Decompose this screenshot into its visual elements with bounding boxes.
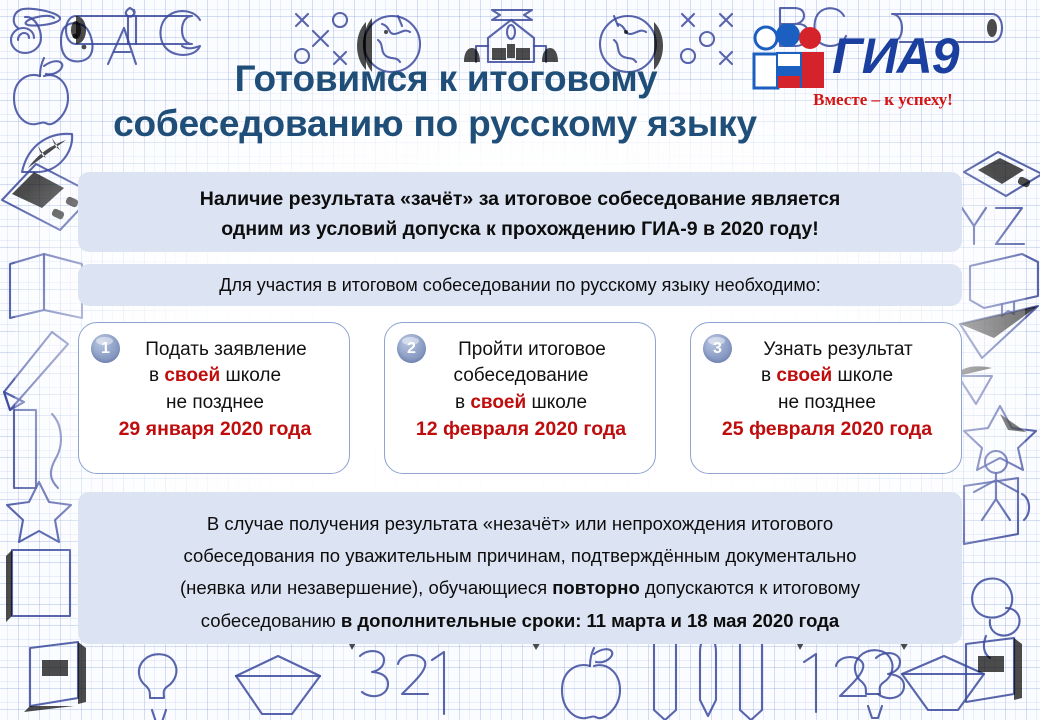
gia9-logo-wordmark: ГИА9 [832,27,959,85]
step3-line-3: не позднее [703,390,951,416]
step-card-2[interactable]: 2 Пройти итоговое собеседование в своей … [384,322,656,474]
step2-date: 12 февраля 2020 года [397,416,645,444]
step3-line2-post: школе [832,365,893,386]
step2-line-1: Пройти итоговое [419,337,645,363]
note-line4-bold: в дополнительные сроки: 11 марта и 18 ма… [341,610,839,631]
step3-line2-highlight: своей [776,365,832,386]
step-card-1[interactable]: 1 Подать заявление в своей школе не позд… [78,322,350,474]
step-body-1: Подать заявление в своей школе не поздне… [79,337,349,444]
title-line-1: Готовимся к итоговому [96,56,796,101]
emphasis-panel: Наличие результата «зачёт» за итоговое с… [78,172,962,252]
step1-line-3: не позднее [91,390,339,416]
gia9-logo-figures-icon [748,24,840,90]
requirement-panel: Для участия в итоговом собеседовании по … [78,264,962,306]
emphasis-line-1: Наличие результата «зачёт» за итоговое с… [78,185,962,215]
step-body-3: Узнать результат в своей школе не поздне… [691,337,961,444]
step2-line3-highlight: своей [470,392,526,413]
note-line4-a: собеседованию [201,610,341,631]
gia9-logo-tagline: Вместе – к успеху! [798,90,968,110]
requirement-text: Для участия в итоговом собеседовании по … [219,275,820,296]
poster-content: Готовимся к итоговому собеседованию по р… [0,0,1040,720]
steps-container: 1 Подать заявление в своей школе не позд… [78,322,962,474]
step-card-3[interactable]: 3 Узнать результат в своей школе не позд… [690,322,962,474]
note-line3-bold: повторно [552,577,640,598]
gia9-logo: ГИА9 Вместе – к успеху! [748,24,964,116]
step1-line2-highlight: своей [164,365,220,386]
step2-line3-post: школе [526,392,587,413]
title-line-2: собеседованию по русскому языку [74,101,796,146]
step1-line2-pre: в [149,365,164,386]
step-body-2: Пройти итоговое собеседование в своей шк… [385,337,655,444]
page-title: Готовимся к итоговому собеседованию по р… [96,56,796,146]
note-line3-c: допускаются к итоговому [640,577,860,598]
step3-line2-pre: в [761,365,776,386]
step1-date: 29 января 2020 года [91,416,339,444]
step3-date: 25 февраля 2020 года [703,416,951,444]
step1-line-1: Подать заявление [113,337,339,363]
step2-line-2: собеседование [397,363,645,389]
emphasis-line-2: одним из условий допуска к прохождению Г… [78,215,962,245]
note-line3-a: (неявка или незавершение), обучающиеся [180,577,552,598]
note-line-2: собеседования по уважительным причинам, … [78,540,962,572]
step1-line-2: в своей школе [91,363,339,389]
step1-line2-post: школе [220,365,281,386]
note-line-1: В случае получения результата «незачёт» … [78,508,962,540]
step3-line-1: Узнать результат [725,337,951,363]
poster-canvas: Готовимся к итоговому собеседованию по р… [0,0,1040,720]
step3-line-2: в своей школе [703,363,951,389]
step2-line3-pre: в [455,392,470,413]
step2-line-3: в своей школе [397,390,645,416]
note-line-3: (неявка или незавершение), обучающиеся п… [78,572,962,604]
note-line-4: собеседованию в дополнительные сроки: 11… [78,605,962,637]
note-panel: В случае получения результата «незачёт» … [78,492,962,644]
